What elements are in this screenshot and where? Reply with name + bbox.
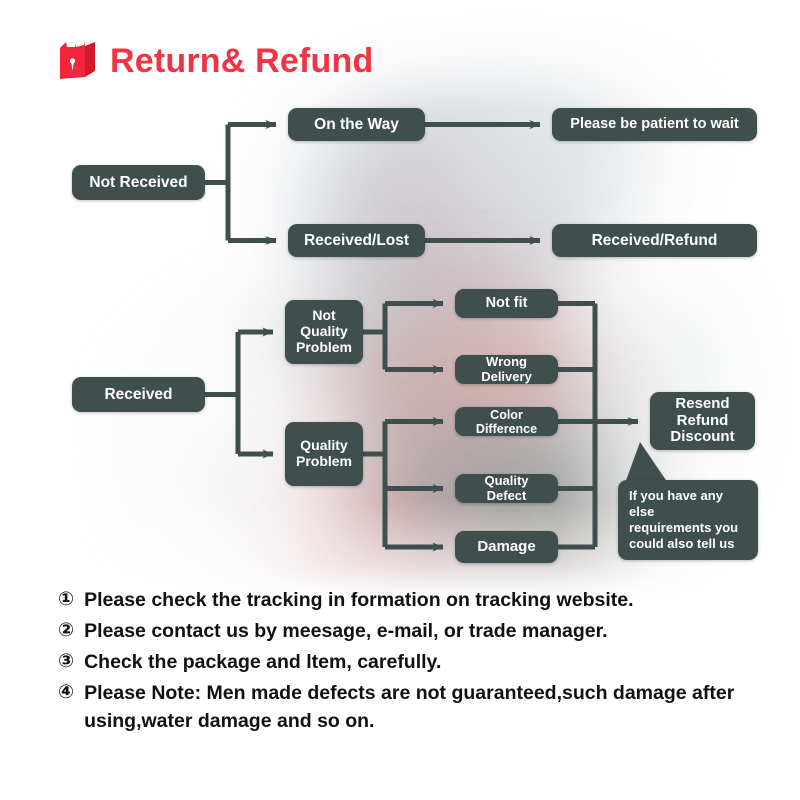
node-quality-defect[interactable]: Quality Defect bbox=[455, 474, 558, 503]
note-item: ④ Please Note: Men made defects are not … bbox=[58, 679, 768, 735]
return-refund-infographic: Return& Refund bbox=[0, 0, 800, 800]
node-color-difference[interactable]: Color Difference bbox=[455, 407, 558, 436]
node-not-received[interactable]: Not Received bbox=[72, 165, 205, 200]
note-text: Please Note: Men made defects are not gu… bbox=[84, 679, 768, 735]
note-number: ③ bbox=[58, 648, 74, 675]
notes-list: ① Please check the tracking in formation… bbox=[58, 586, 768, 738]
node-damage[interactable]: Damage bbox=[455, 531, 558, 563]
node-received[interactable]: Received bbox=[72, 377, 205, 412]
node-not-quality-problem[interactable]: Not Quality Problem bbox=[285, 300, 363, 364]
note-number: ② bbox=[58, 617, 74, 644]
node-wrong-delivery[interactable]: Wrong Delivery bbox=[455, 355, 558, 384]
note-number: ④ bbox=[58, 679, 74, 706]
extra-requirements-callout: If you have any else requirements you co… bbox=[618, 480, 758, 560]
node-on-the-way[interactable]: On the Way bbox=[288, 108, 425, 141]
note-text: Please contact us by meesage, e-mail, or… bbox=[84, 617, 768, 645]
note-item: ② Please contact us by meesage, e-mail, … bbox=[58, 617, 768, 645]
node-received-lost[interactable]: Received/Lost bbox=[288, 224, 425, 257]
node-quality-problem[interactable]: Quality Problem bbox=[285, 422, 363, 486]
note-number: ① bbox=[58, 586, 74, 613]
note-item: ③ Check the package and ltem, carefully. bbox=[58, 648, 768, 676]
node-not-fit[interactable]: Not fit bbox=[455, 289, 558, 318]
note-text: Check the package and ltem, carefully. bbox=[84, 648, 768, 676]
note-item: ① Please check the tracking in formation… bbox=[58, 586, 768, 614]
note-text: Please check the tracking in formation o… bbox=[84, 586, 768, 614]
node-received-refund[interactable]: Received/Refund bbox=[552, 224, 757, 257]
node-please-be-patient-to-wait[interactable]: Please be patient to wait bbox=[552, 108, 757, 141]
